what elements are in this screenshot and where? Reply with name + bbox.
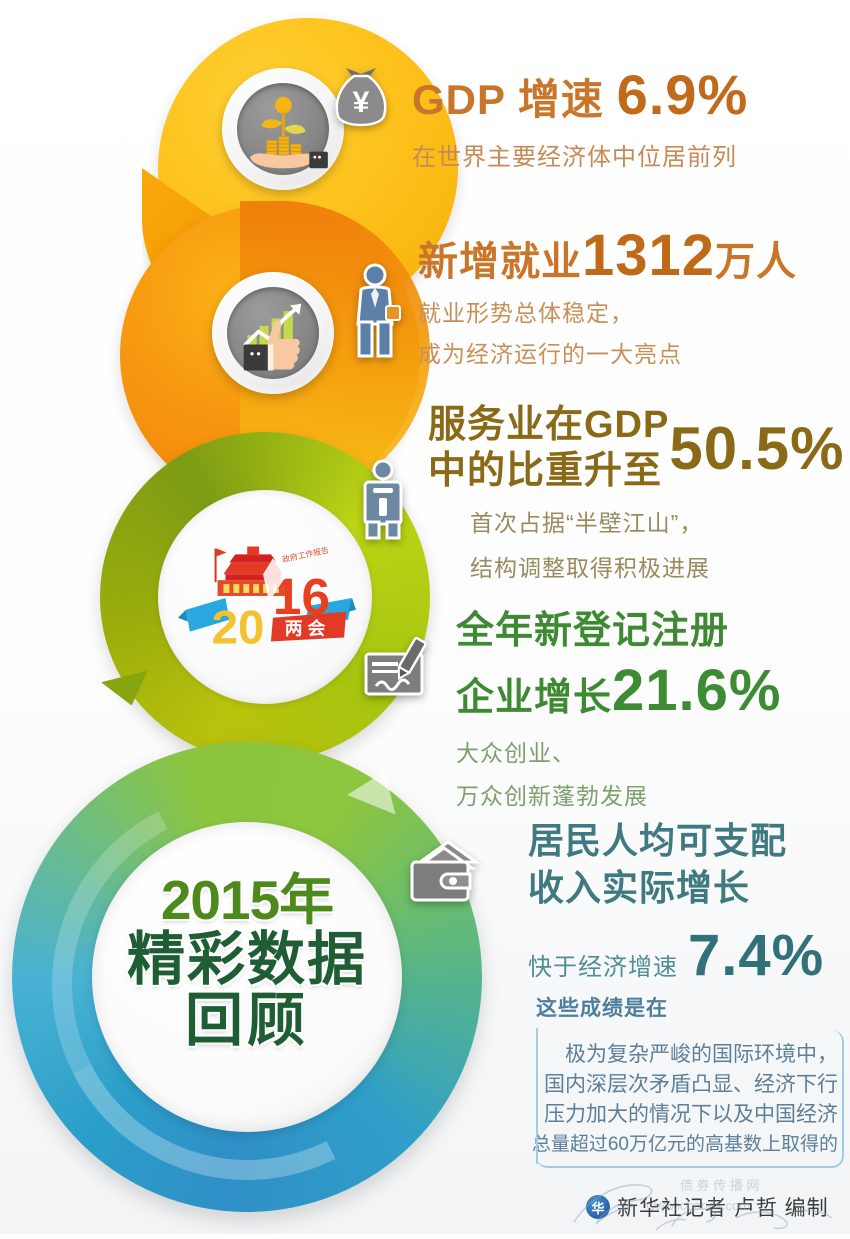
stat-value-gdp: 6.9% [617, 63, 749, 126]
2016-lianghui-emblem: 20 16 两 会 政府工作报告 [178, 528, 356, 658]
stat-block-new-enterprises: 全年新登记注册 企业增长21.6% 大众创业、 万众创新蓬勃发展 [456, 608, 781, 814]
note-box: 极为复杂严峻的国际环境中， 国内深层次矛盾凸显、经济下行 压力加大的情况下以及中… [536, 1030, 844, 1168]
stat-sub-income: 快于经济增速 [528, 954, 678, 981]
note-line-4: 总量超过60万亿元的高基数上取得的 [508, 1131, 838, 1158]
stat-sub-enterprises-2: 万众创新蓬勃发展 [456, 780, 781, 813]
stat-unit-employment: 万人 [715, 240, 797, 284]
stat-sub-enterprises-1: 大众创业、 [456, 737, 781, 770]
wallet-house-icon [408, 840, 480, 906]
stat-block-gdp-growth: GDP 增速 6.9% 在世界主要经济体中位居前列 [412, 62, 748, 172]
stat-value-income: 7.4% [688, 923, 824, 988]
credit-text: 新华社记者 卢哲 编制 [617, 1192, 829, 1222]
title-line-1: 2015年 [122, 872, 372, 928]
stat-label-enterprises-1: 全年新登记注册 [456, 608, 781, 655]
title-line-2: 精彩数据 [122, 930, 372, 989]
businessman-icon [348, 262, 404, 358]
stat-sub-service-2: 结构调整取得积极进展 [428, 552, 845, 585]
note-line-2: 国内深层次矛盾凸显、经济下行 [536, 1070, 838, 1100]
stat-label-income-2: 收入实际增长 [528, 865, 824, 912]
stat-sub-employment-2: 成为经济运行的一大亮点 [418, 338, 797, 371]
stat-sub-gdp-1: 在世界主要经济体中位居前列 [412, 137, 748, 172]
title-line-3: 回顾 [122, 991, 372, 1050]
xinhua-logo-icon: 华 [586, 1195, 610, 1219]
service-person-icon [357, 458, 409, 540]
stat-sub-service-1: 首次占据“半壁江山”， [428, 507, 845, 540]
stat-block-new-employment: 新增就业1312万人 就业形势总体稳定， 成为经济运行的一大亮点 [418, 222, 797, 372]
stat-sub-employment-1: 就业形势总体稳定， [418, 297, 797, 330]
credit-line: 华 新华社记者 卢哲 编制 [586, 1192, 829, 1222]
note-line-3: 压力加大的情况下以及中国经济 [536, 1100, 838, 1130]
stat-value-employment: 1312 [582, 223, 715, 288]
money-bag-yuan-icon: ¥ [330, 62, 392, 134]
stat-label-employment: 新增就业 [418, 240, 582, 284]
stat-headline-enterprises: 全年新登记注册 企业增长21.6% [456, 608, 781, 727]
stat-label-enterprises-2: 企业增长 [456, 677, 612, 719]
stat-block-disposable-income: 居民人均可支配 收入实际增长 快于经济增速7.4% [528, 818, 824, 993]
stat-label-service-2: 中的比重升至 [428, 448, 669, 494]
stat-label-gdp: GDP 增速 [412, 76, 617, 123]
stat-headline-gdp: GDP 增速 6.9% [412, 62, 748, 127]
stat-value-enterprises: 21.6% [612, 658, 781, 723]
stat-headline-employment: 新增就业1312万人 [418, 222, 797, 289]
watermark-brand: 债 券 传 播 网 [680, 1178, 759, 1193]
note-lead: 这些成绩是在 [536, 992, 844, 1022]
svg-text:两 会: 两 会 [285, 618, 326, 639]
note-line-1: 极为复杂严峻的国际环境中， [536, 1040, 838, 1070]
thumbs-up-chart-icon [212, 272, 334, 394]
svg-text:¥: ¥ [353, 86, 370, 119]
stat-label-income-1: 居民人均可支配 [528, 818, 824, 865]
signature-form-pen-icon [362, 636, 436, 702]
stat-headline-income: 居民人均可支配 收入实际增长 [528, 818, 824, 912]
stat-label-service-1: 服务业在GDP [428, 402, 669, 448]
stat-headline-service: 服务业在GDP 中的比重升至 50.5% [428, 402, 845, 495]
svg-text:20: 20 [212, 601, 265, 654]
svg-text:政府工作报告: 政府工作报告 [281, 545, 330, 565]
plant-coins-hand-icon [222, 68, 344, 190]
stat-block-service-share: 服务业在GDP 中的比重升至 50.5% 首次占据“半壁江山”， 结构调整取得积… [428, 402, 845, 585]
stat-value-service: 50.5% [669, 415, 844, 482]
summary-note: 这些成绩是在 极为复杂严峻的国际环境中， 国内深层次矛盾凸显、经济下行 压力加大… [536, 992, 844, 1168]
page-title: 2015年 精彩数据 回顾 [122, 872, 372, 1050]
